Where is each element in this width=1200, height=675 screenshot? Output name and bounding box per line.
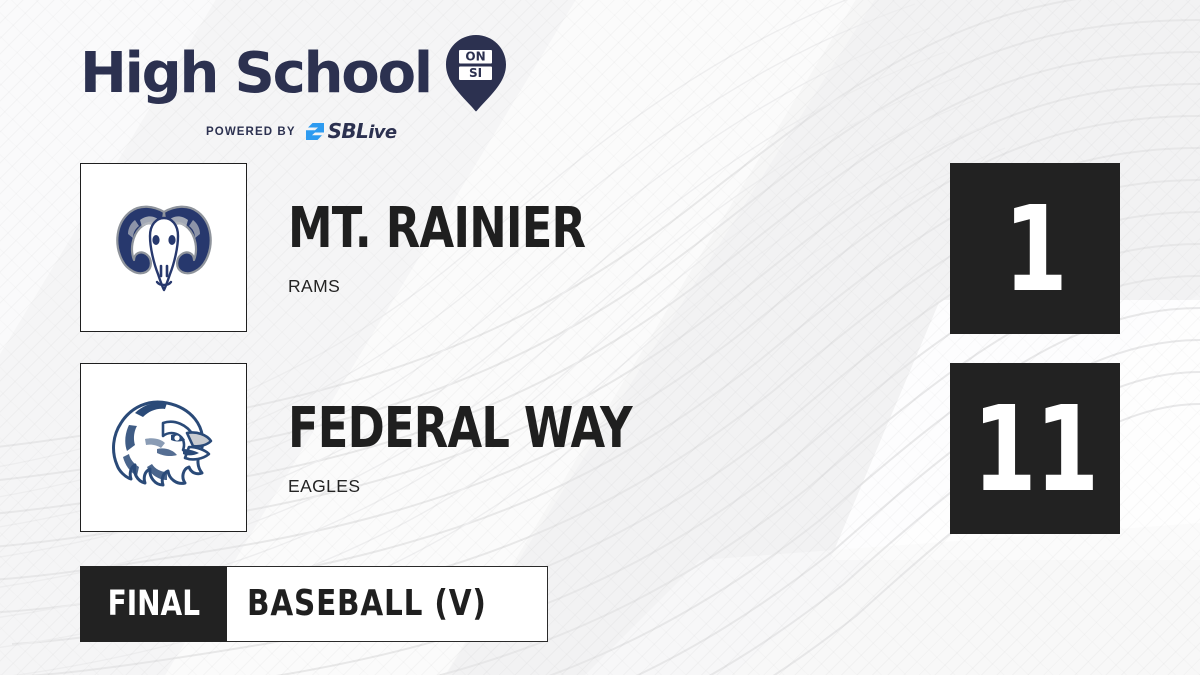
team-mascot: EAGLES xyxy=(288,476,718,497)
sblive-wordmark: SBLive xyxy=(328,121,397,142)
team-info: FEDERAL WAY EAGLES xyxy=(288,401,718,497)
location-pin-icon: ON SI xyxy=(445,34,507,112)
scoreboard-graphic: High School ON SI POWERED BY xyxy=(0,0,1200,675)
team-logo-box xyxy=(80,163,247,332)
team-score-box: 11 xyxy=(950,363,1120,534)
team-logo-box xyxy=(80,363,247,532)
sblive-logo: SBLive xyxy=(305,121,397,142)
team-row: MT. RAINIER RAMS 1 xyxy=(0,163,1200,335)
status-bar: FINAL BASEBALL (V) xyxy=(80,566,548,642)
status-badge: FINAL xyxy=(80,566,227,642)
team-name: MT. RAINIER xyxy=(288,201,585,257)
team-info: MT. RAINIER RAMS xyxy=(288,201,660,297)
powered-by-row: POWERED BY SBLive xyxy=(206,121,510,142)
team-score-box: 1 xyxy=(950,163,1120,334)
page-title: High School xyxy=(80,46,431,102)
eagle-head-logo xyxy=(103,387,225,509)
team-score: 1 xyxy=(1004,190,1066,308)
team-score: 11 xyxy=(973,390,1098,508)
sport-panel: BASEBALL (V) xyxy=(227,566,548,642)
status-badge-label: FINAL xyxy=(107,587,200,622)
team-mascot: RAMS xyxy=(288,276,660,297)
brand-header: High School ON SI POWERED BY xyxy=(80,36,510,136)
brand-title-row: High School ON SI xyxy=(80,36,510,112)
svg-text:ON: ON xyxy=(465,50,485,64)
team-name: FEDERAL WAY xyxy=(288,401,632,457)
sblive-s-icon xyxy=(305,122,325,141)
team-row: FEDERAL WAY EAGLES 11 xyxy=(0,363,1200,535)
svg-text:SI: SI xyxy=(469,66,482,80)
sport-label: BASEBALL (V) xyxy=(247,586,487,622)
ram-head-logo xyxy=(104,188,224,308)
powered-by-label: POWERED BY xyxy=(206,126,296,138)
